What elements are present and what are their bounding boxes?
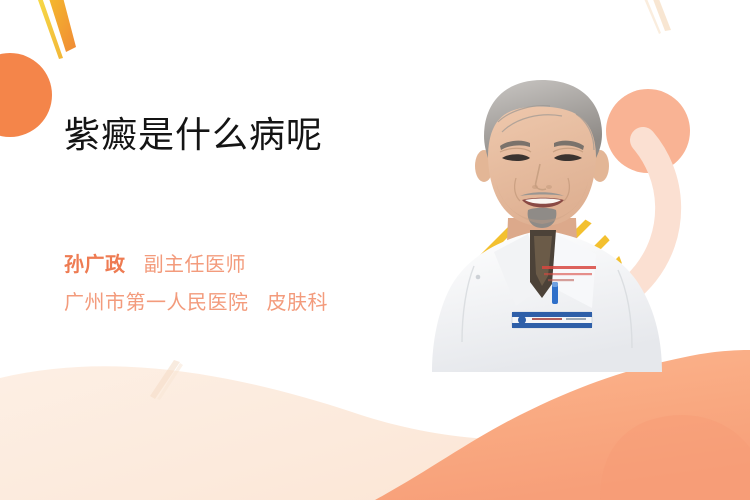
doctor-name: 孙广政 <box>64 254 126 276</box>
coat-button <box>476 275 481 280</box>
doctor-byline-row-1: 孙广政 副主任医师 <box>64 246 328 284</box>
doctor-portrait-illustration <box>430 70 730 380</box>
doctor-byline-row-2: 广州市第一人民医院 皮肤科 <box>64 284 328 322</box>
doctor-photo <box>430 70 730 380</box>
doctor-info-card: 紫癜是什么病呢 孙广政 副主任医师 广州市第一人民医院 皮肤科 <box>0 0 750 500</box>
page-title: 紫癜是什么病呢 <box>64 112 323 157</box>
doctor-rank: 副主任医师 <box>144 254 247 276</box>
id-badge <box>512 312 592 328</box>
orange-circle-left-edge <box>0 53 52 137</box>
pen-in-pocket <box>552 282 558 304</box>
doctor-byline: 孙广政 副主任医师 广州市第一人民医院 皮肤科 <box>64 246 328 322</box>
stripes-top-left <box>33 0 76 59</box>
doctor-department: 皮肤科 <box>267 292 329 314</box>
doctor-hospital: 广州市第一人民医院 <box>64 292 249 314</box>
stripes-top-right <box>642 0 671 34</box>
